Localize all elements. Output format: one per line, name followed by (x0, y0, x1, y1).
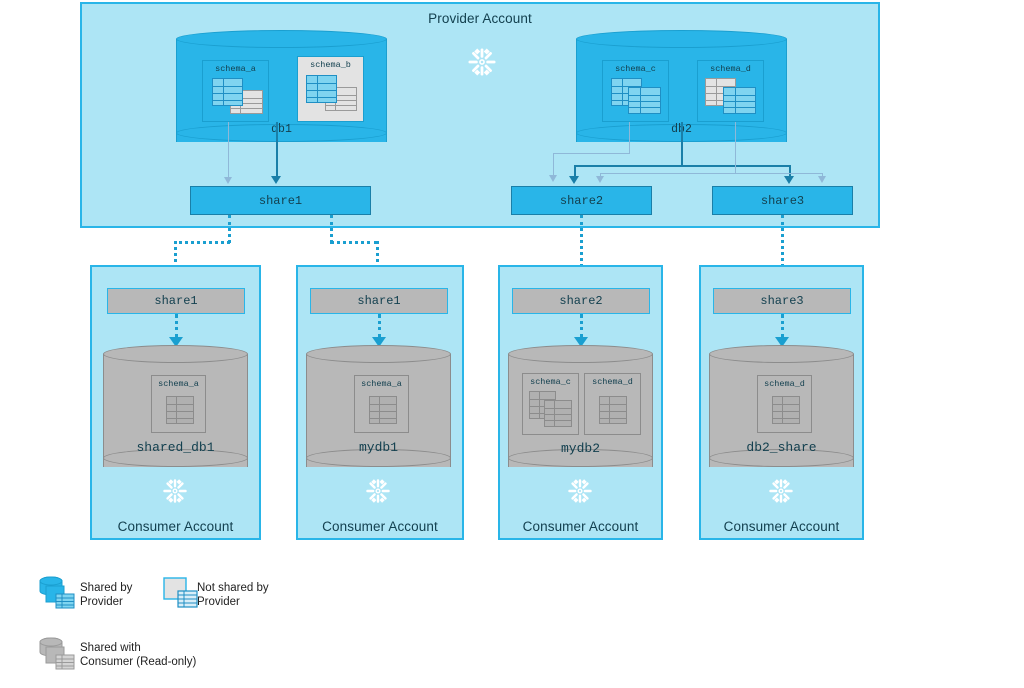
dotted-consumer2-share-to-db (378, 314, 381, 338)
table-icon-blue (212, 78, 243, 106)
schema-label: schema_a (152, 379, 205, 389)
cylinder-top (508, 345, 653, 363)
schema-box-schema_d: schema_d (697, 60, 764, 122)
cylinder-top (306, 345, 451, 363)
schema-box-schema_d: schema_d (757, 375, 812, 433)
dotted-share1-stub-left (228, 215, 231, 243)
shared-with-consumer-icon (38, 636, 82, 671)
consumer-database-1: shared_db1 schema_a (103, 345, 248, 467)
dotted-consumer1-share-to-db (175, 314, 178, 338)
connector-schema_d-stub (735, 122, 736, 174)
legend-item-shared-by-provider (38, 575, 82, 610)
arrow-head (596, 176, 604, 183)
consumer-database-3: mydb2 schema_c schema_d (508, 345, 653, 467)
legend-label-shared-with-consumer: Shared with Consumer (Read-only) (80, 641, 250, 669)
snowflake-icon (768, 478, 794, 509)
consumer-account-title: Consumer Account (701, 519, 862, 534)
schema-label: schema_d (758, 379, 811, 389)
consumer-share-box-3[interactable]: share2 (512, 288, 650, 314)
dotted-consumer3-share-to-db (580, 314, 583, 338)
consumer-share-box-1[interactable]: share1 (107, 288, 245, 314)
schema-box-schema_a: schema_a (354, 375, 409, 433)
cylinder-top (576, 30, 787, 48)
arrow-head (549, 175, 557, 182)
snowflake-icon (365, 478, 391, 509)
schema-label: schema_d (698, 64, 763, 74)
connector-db2-horizontal (574, 165, 790, 167)
snowflake-icon (162, 478, 188, 509)
share-label: share2 (560, 194, 603, 208)
dotted-consumer4-share-to-db (781, 314, 784, 338)
share-label: share3 (761, 194, 804, 208)
connector-schema_c-horizontal (553, 153, 630, 154)
schema-box-schema_c: schema_c (602, 60, 669, 122)
connector-schema_c-stub (629, 122, 630, 154)
consumer-account-title: Consumer Account (92, 519, 259, 534)
snowflake-icon (467, 47, 497, 82)
schema-label: schema_a (355, 379, 408, 389)
cylinder-top (103, 345, 248, 363)
connector-schema_a-to-share1 (228, 122, 229, 178)
share-label: share1 (357, 294, 400, 308)
dotted-share1-horizontal-left (174, 241, 230, 244)
arrow-head (569, 176, 579, 184)
schema-label: schema_c (523, 377, 578, 387)
schema-box-schema_b: schema_b (297, 56, 364, 122)
consumer-share-box-4[interactable]: share3 (713, 288, 851, 314)
arrow-head (818, 176, 826, 183)
dotted-share1-horizontal-right (330, 241, 378, 244)
provider-account-title: Provider Account (82, 11, 878, 26)
shared-by-provider-icon (38, 575, 82, 610)
cylinder-top (709, 345, 854, 363)
schema-box-schema_a: schema_a (151, 375, 206, 433)
database-label: mydb1 (306, 440, 451, 455)
consumer-account-title: Consumer Account (298, 519, 462, 534)
dotted-share1-stub-right (330, 215, 333, 243)
database-label: db1 (176, 123, 387, 136)
table-icon-blue (306, 75, 337, 103)
arrow-head (224, 177, 232, 184)
connector-db2-stub (681, 122, 683, 166)
arrow-head (271, 176, 281, 184)
schema-box-schema_c: schema_c (522, 373, 579, 435)
legend-label-shared-by-provider: Shared by Provider (80, 581, 160, 609)
table-icon-gray (772, 396, 800, 424)
database-label: db2_share (709, 440, 854, 455)
cylinder-top (176, 30, 387, 48)
connector-schema_c-drop (553, 153, 554, 176)
database-label: shared_db1 (103, 440, 248, 455)
share-label: share3 (760, 294, 803, 308)
schema-label: schema_d (585, 377, 640, 387)
share-label: share2 (559, 294, 602, 308)
share-box-share1[interactable]: share1 (190, 186, 371, 215)
database-db1: db1 schema_a schema_b (176, 30, 387, 142)
schema-label: schema_b (298, 60, 363, 70)
connector-schema_d-horizontal (600, 173, 822, 174)
table-icon-gray (544, 400, 572, 427)
arrow-head (784, 176, 794, 184)
consumer-database-4: db2_share schema_d (709, 345, 854, 467)
schema-box-schema_a: schema_a (202, 60, 269, 122)
table-icon-blue (628, 87, 661, 114)
database-label: mydb2 (508, 441, 653, 456)
consumer-share-box-2[interactable]: share1 (310, 288, 448, 314)
consumer-account-title: Consumer Account (500, 519, 661, 534)
table-icon-gray (599, 396, 627, 424)
share-label: share1 (259, 194, 302, 208)
table-icon-blue (723, 87, 756, 114)
snowflake-icon (567, 478, 593, 509)
table-icon-gray (166, 396, 194, 424)
schema-label: schema_c (603, 64, 668, 74)
table-icon-gray (369, 396, 397, 424)
connector-db1-to-share1 (276, 122, 278, 177)
share-label: share1 (154, 294, 197, 308)
legend-item-shared-with-consumer (38, 636, 82, 671)
share-box-share2[interactable]: share2 (511, 186, 652, 215)
schema-label: schema_a (203, 64, 268, 74)
share-box-share3[interactable]: share3 (712, 186, 853, 215)
consumer-database-2: mydb1 schema_a (306, 345, 451, 467)
legend-label-not-shared-by-provider: Not shared by Provider (197, 581, 292, 609)
schema-box-schema_d: schema_d (584, 373, 641, 435)
